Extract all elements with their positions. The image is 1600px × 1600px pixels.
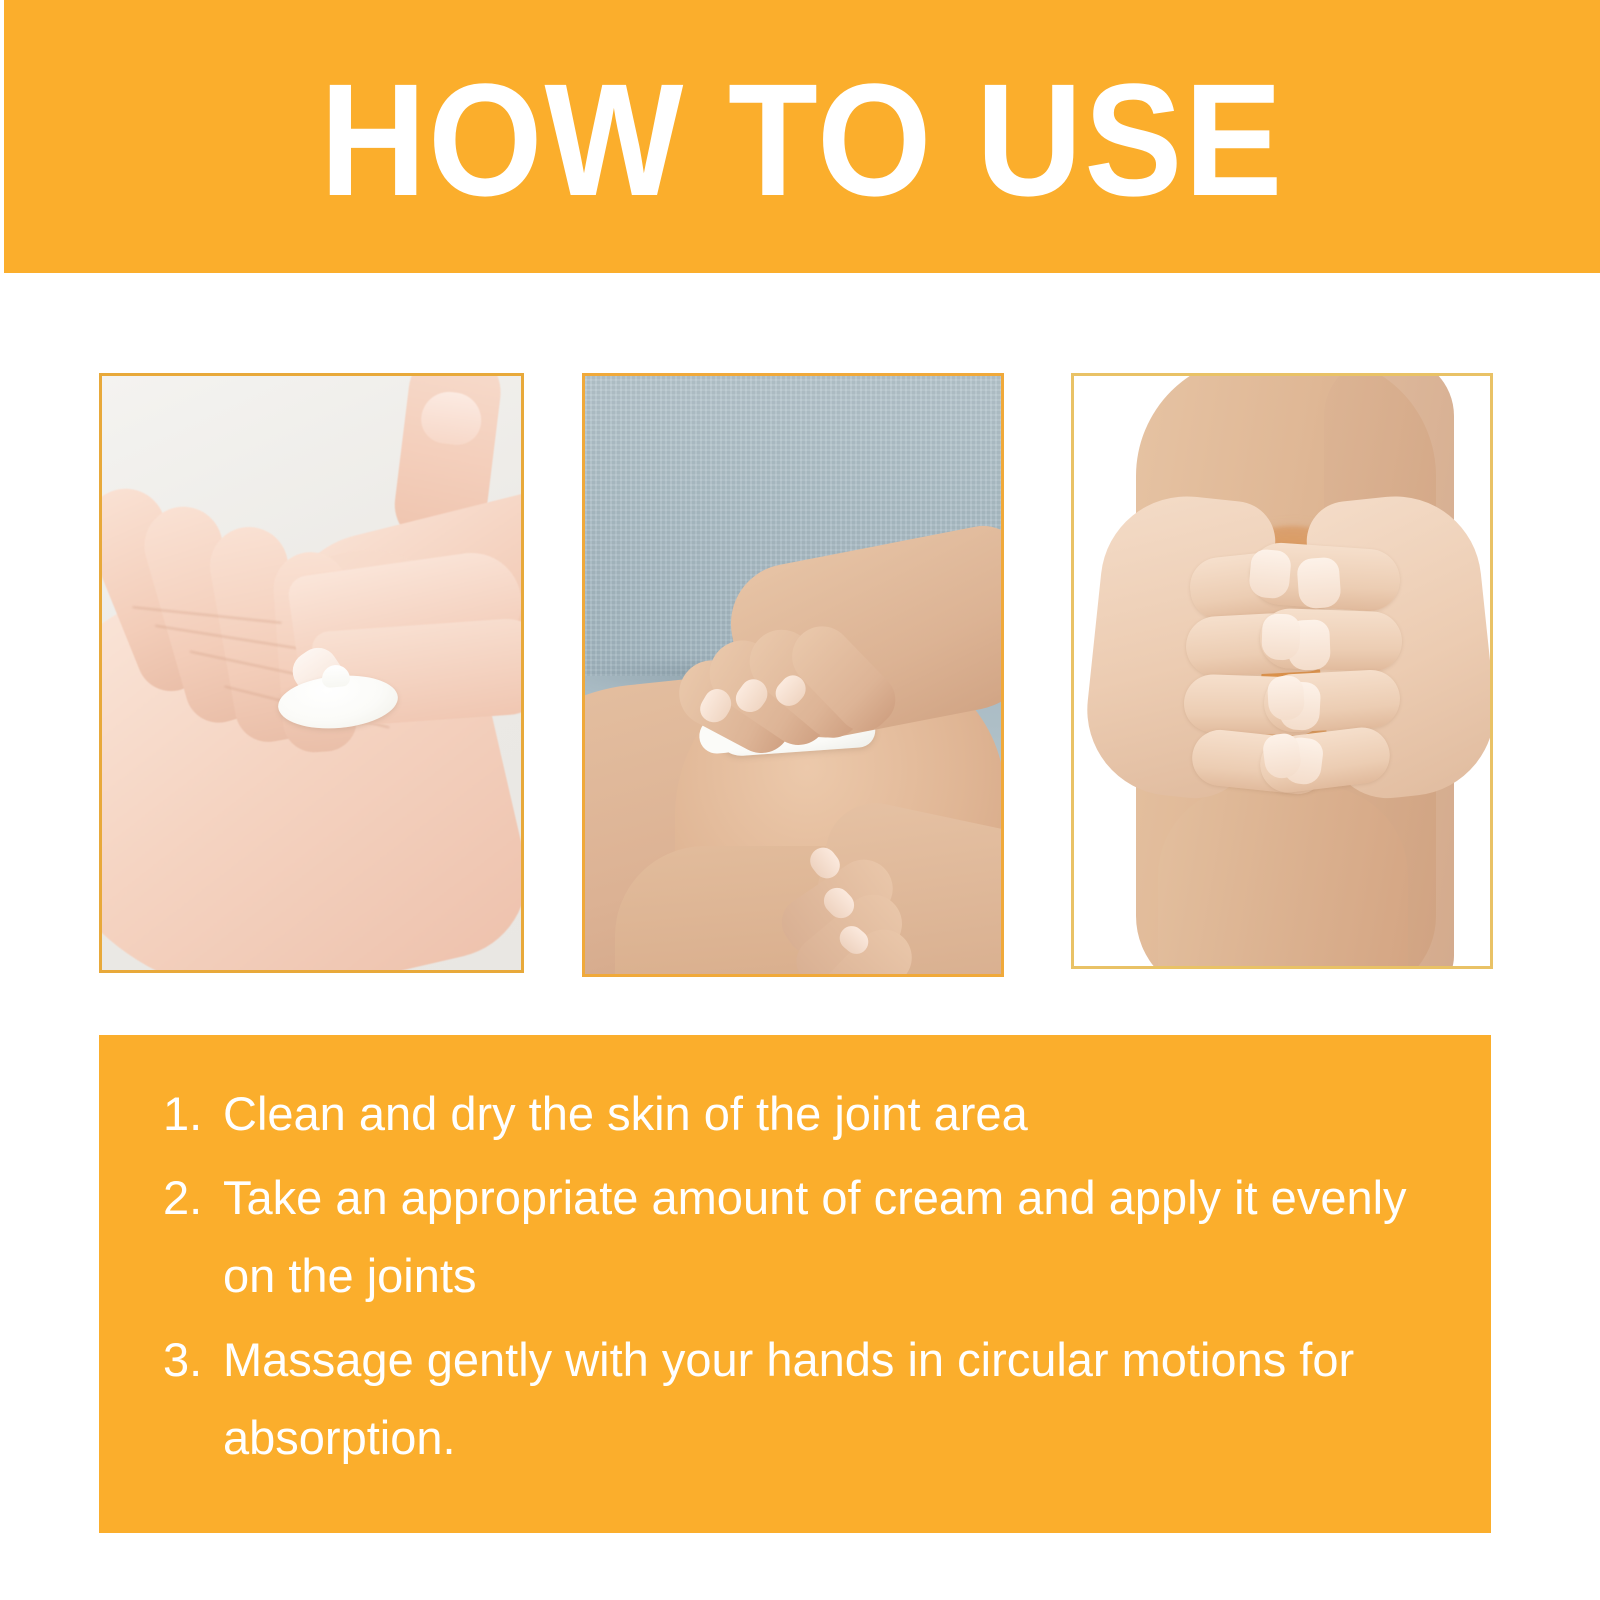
step-number: 3. [163,1321,202,1399]
step-number: 2. [163,1159,202,1237]
instructions-panel: 1. Clean and dry the skin of the joint a… [99,1035,1491,1533]
photo-cream-on-palm-image [102,376,521,970]
fingernail [1296,557,1341,610]
photo-apply-cream-to-knee-image [585,376,1001,974]
shin [1158,786,1408,969]
photo-apply-cream-to-knee [582,373,1004,977]
header-banner: HOW TO USE [4,0,1600,273]
photo-massage-knee-joint [1071,373,1493,969]
list-item: 1. Clean and dry the skin of the joint a… [163,1075,1451,1153]
fingernail [1248,548,1292,599]
list-item: 3. Massage gently with your hands in cir… [163,1321,1451,1477]
step-number: 1. [163,1075,202,1153]
photo-gallery [0,373,1600,977]
list-item: 2. Take an appropriate amount of cream a… [163,1159,1451,1315]
step-text: Massage gently with your hands in circul… [223,1333,1354,1464]
step-text: Take an appropriate amount of cream and … [223,1171,1407,1302]
photo-cream-on-palm [99,373,524,973]
fingernail [1267,675,1305,721]
page-title: HOW TO USE [320,60,1284,220]
instruction-list: 1. Clean and dry the skin of the joint a… [163,1075,1451,1477]
photo-massage-knee-joint-image [1074,376,1490,966]
fingernail [1261,613,1301,660]
step-text: Clean and dry the skin of the joint area [223,1087,1028,1140]
